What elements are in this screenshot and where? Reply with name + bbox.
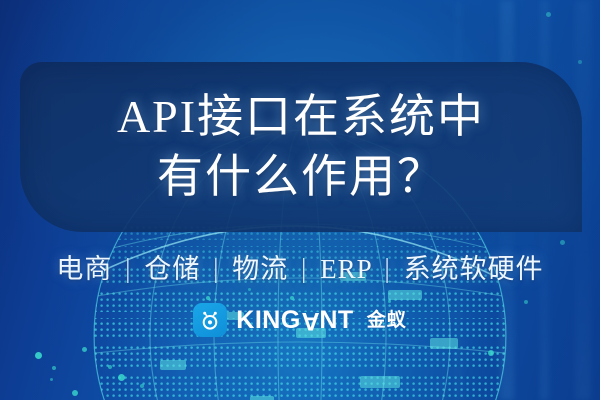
subtitle-item-2: 物流 xyxy=(232,254,288,284)
brand-logo: KINGANT 金蚁 xyxy=(0,303,600,337)
floating-particles xyxy=(52,366,56,370)
headline-line-2: 有什么作用？ xyxy=(157,150,445,204)
poster-canvas: API接口在系统中 有什么作用？ 电商 | 仓储 | 物流 | ERP | 系统… xyxy=(0,0,600,400)
floating-particles xyxy=(118,374,125,381)
logo-wordmark-text: KINGANT xyxy=(236,308,353,333)
logo-wordmark: KINGANT xyxy=(236,308,353,333)
subtitle-separator: | xyxy=(384,253,390,284)
floating-particles xyxy=(248,288,251,291)
floating-particles xyxy=(82,347,87,352)
floating-particles xyxy=(488,350,494,356)
subtitle-item-4: 系统软硬件 xyxy=(404,254,544,284)
headline-block: API接口在系统中 有什么作用？ xyxy=(20,62,582,232)
floating-particles xyxy=(50,378,53,381)
subtitle-separator: | xyxy=(213,253,219,284)
kingant-ant-logo-icon xyxy=(193,303,227,337)
subtitle-separator: | xyxy=(301,253,307,284)
floating-particles xyxy=(206,296,210,300)
floating-particles xyxy=(35,352,42,359)
subtitle-item-3: ERP xyxy=(320,254,372,284)
floating-particles xyxy=(546,12,551,17)
floating-particles xyxy=(290,296,294,300)
headline-line-1: API接口在系统中 xyxy=(117,90,485,144)
subtitle-separator: | xyxy=(125,253,131,284)
subtitle-item-1: 仓储 xyxy=(144,254,200,284)
subtitle-item-0: 电商 xyxy=(56,254,112,284)
floating-particles xyxy=(140,384,144,388)
floating-particles xyxy=(108,365,112,369)
subtitle-row: 电商 | 仓储 | 物流 | ERP | 系统软硬件 xyxy=(0,247,600,286)
floating-particles xyxy=(560,240,565,245)
logo-wordmark-cn: 金蚁 xyxy=(367,311,407,330)
floating-particles xyxy=(72,390,78,396)
